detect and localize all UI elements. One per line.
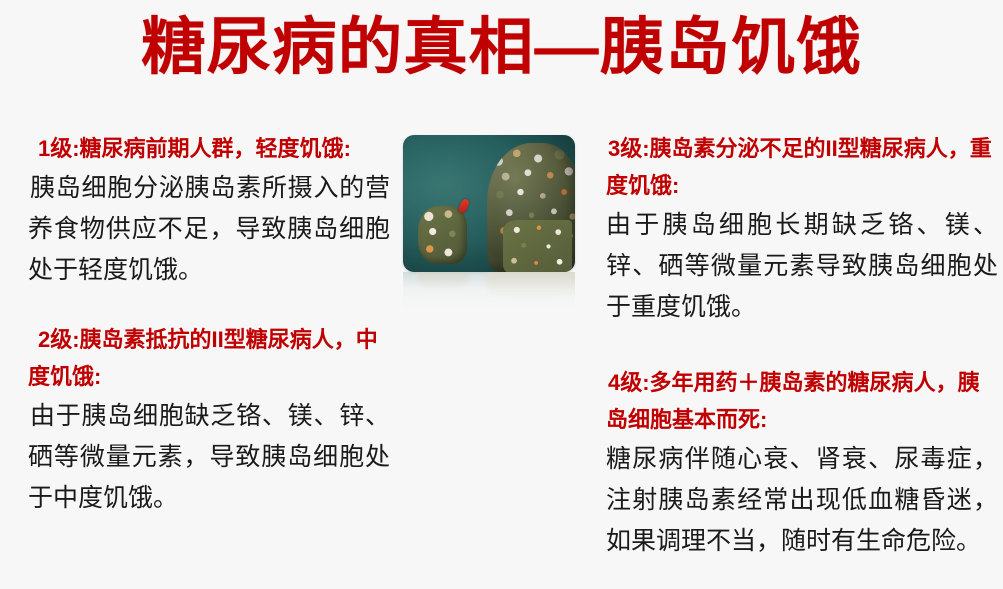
title-bar: 糖尿病的真相—胰岛饥饿 <box>0 11 1003 85</box>
right-column: 3级:胰岛素分泌不足的II型糖尿病人，重度饥饿: 由于胰岛细胞长期缺乏铬、镁、锌… <box>606 130 998 588</box>
reflection-head <box>487 272 575 298</box>
page-title: 糖尿病的真相—胰岛饥饿 <box>141 11 862 85</box>
level-1-body: 胰岛细胞分泌胰岛素所摄入的营养食物供应不足，导致胰岛细胞处于轻度饥饿。 <box>28 168 390 291</box>
level-block-1: 1级:糖尿病前期人群，轻度饥饿: 胰岛细胞分泌胰岛素所摄入的营养食物供应不足，导… <box>28 130 390 291</box>
slide-canvas: 糖尿病的真相—胰岛饥饿 1级:糖尿病前期人群，轻度饥饿: 胰岛细胞分泌胰岛素所摄… <box>0 0 1003 589</box>
level-block-3: 3级:胰岛素分泌不足的II型糖尿病人，重度饥饿: 由于胰岛细胞长期缺乏铬、镁、锌… <box>606 130 998 328</box>
reflection-hand <box>418 272 466 290</box>
level-4-heading: 4级:多年用药＋胰岛素的糖尿病人，胰岛细胞基本而死: <box>606 364 998 438</box>
left-column: 1级:糖尿病前期人群，轻度饥饿: 胰岛细胞分泌胰岛素所摄入的营养食物供应不足，导… <box>28 130 390 545</box>
pill-neck-shape <box>503 220 572 272</box>
center-figure <box>403 135 575 310</box>
level-block-2: 2级:胰岛素抵抗的II型糖尿病人，中度饥饿: 由于胰岛细胞缺乏铬、镁、锌、硒等微… <box>28 321 390 519</box>
level-2-body: 由于胰岛细胞缺乏铬、镁、锌、硒等微量元素，导致胰岛细胞处于中度饥饿。 <box>28 396 390 519</box>
level-4-body: 糖尿病伴随心衰、肾衰、尿毒症，注射胰岛素经常出现低血糖昏迷，如果调理不当，随时有… <box>606 439 998 562</box>
pill-hand-shape <box>418 206 466 264</box>
pill-head-photo <box>403 135 575 272</box>
level-2-heading: 2级:胰岛素抵抗的II型糖尿病人，中度饥饿: <box>28 321 390 395</box>
level-3-body: 由于胰岛细胞长期缺乏铬、镁、锌、硒等微量元素导致胰岛细胞处于重度饥饿。 <box>606 205 998 328</box>
photo-reflection <box>403 272 575 310</box>
level-block-4: 4级:多年用药＋胰岛素的糖尿病人，胰岛细胞基本而死: 糖尿病伴随心衰、肾衰、尿毒… <box>606 364 998 562</box>
level-1-heading: 1级:糖尿病前期人群，轻度饥饿: <box>28 130 390 167</box>
level-3-heading: 3级:胰岛素分泌不足的II型糖尿病人，重度饥饿: <box>606 130 998 204</box>
